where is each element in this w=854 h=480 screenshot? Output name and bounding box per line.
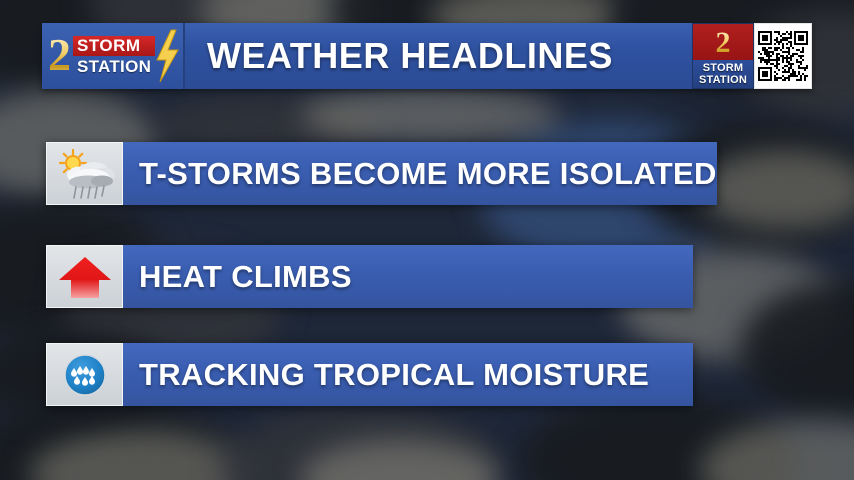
headline-icon-panel xyxy=(46,142,123,205)
logo-wordmark: STORM STATION xyxy=(73,36,155,76)
headline-text: T-STORMS BECOME MORE ISOLATED xyxy=(123,142,717,205)
logo-channel-number: 2 xyxy=(48,32,71,78)
sun-behind-rain-cloud-icon xyxy=(54,148,116,200)
headline-row: HEAT CLIMBS xyxy=(46,245,693,308)
headline-row: TRACKING TROPICAL MOISTURE xyxy=(46,343,693,406)
headline-icon-panel xyxy=(46,245,123,308)
blue-raindrops-circle-icon xyxy=(61,351,109,399)
headline-row: T-STORMS BECOME MORE ISOLATED xyxy=(46,142,693,205)
logo-station-text: STATION xyxy=(73,57,155,76)
headline-text: TRACKING TROPICAL MOISTURE xyxy=(123,343,693,406)
station-logo: 2 STORM STATION xyxy=(42,23,185,89)
qr-code-icon[interactable] xyxy=(754,23,812,89)
lightning-bolt-icon xyxy=(154,29,180,83)
headline-icon-panel xyxy=(46,343,123,406)
corner-bug-logo: 2 STORM STATION xyxy=(692,23,754,89)
corner-bug-number: 2 xyxy=(716,26,731,60)
qr-code-svg xyxy=(758,31,808,81)
corner-bug-storm-text: STORM xyxy=(703,62,744,74)
headline-text: HEAT CLIMBS xyxy=(123,245,693,308)
corner-station-bug: 2 STORM STATION xyxy=(692,23,812,89)
header-bar: 2 STORM STATION WEATHER HEADLINES 2 STOR… xyxy=(42,23,812,89)
weather-headlines-graphic: 2 STORM STATION WEATHER HEADLINES 2 STOR… xyxy=(0,0,854,480)
corner-bug-station-text: STATION xyxy=(699,74,747,86)
red-up-arrow-icon xyxy=(55,252,115,302)
logo-storm-text: STORM xyxy=(73,36,155,56)
